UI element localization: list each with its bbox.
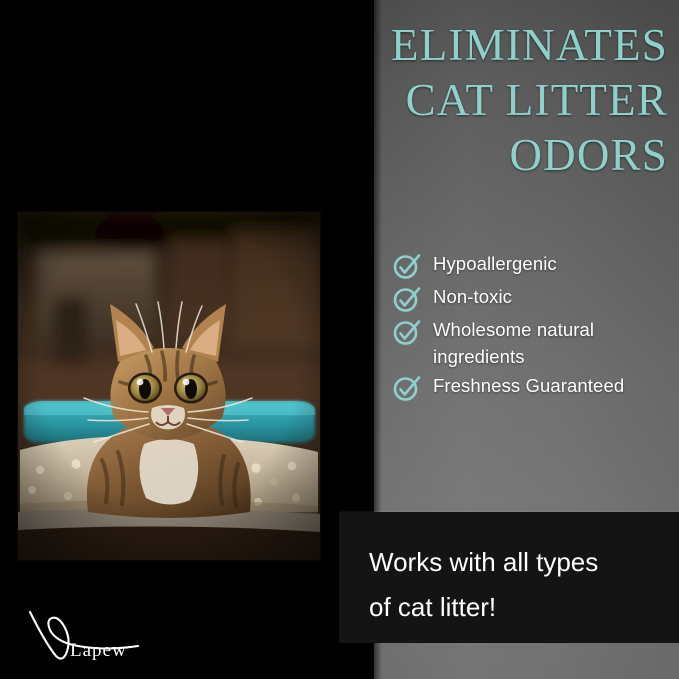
list-item-label: Freshness Guaranteed bbox=[433, 372, 624, 399]
kitten-litter-box-photo bbox=[18, 212, 320, 560]
caption-box: Works with all types of cat litter! bbox=[339, 512, 679, 643]
list-item: Wholesome natural ingredients bbox=[392, 316, 672, 370]
logo-text: Lapew bbox=[70, 640, 127, 662]
headline-line-1: ELIMINATES bbox=[286, 18, 668, 73]
circle-check-icon bbox=[392, 317, 422, 347]
list-item: Freshness Guaranteed bbox=[392, 372, 672, 403]
headline-line-2: CAT LITTER bbox=[286, 73, 668, 128]
list-item-label: Hypoallergenic bbox=[433, 250, 557, 277]
list-item-label: Wholesome natural ingredients bbox=[433, 316, 671, 370]
circle-check-icon bbox=[392, 251, 422, 281]
caption-text: Works with all types of cat litter! bbox=[369, 540, 659, 630]
list-item: Hypoallergenic bbox=[392, 250, 672, 281]
circle-check-icon bbox=[392, 373, 422, 403]
headline: ELIMINATES CAT LITTER ODORS bbox=[286, 18, 668, 183]
benefits-list: Hypoallergenic Non-toxic Wholesome natur… bbox=[392, 250, 672, 405]
caption-line-2: of cat litter! bbox=[369, 585, 659, 630]
circle-check-icon bbox=[392, 284, 422, 314]
headline-line-3: ODORS bbox=[286, 128, 668, 183]
brand-logo: Lapew bbox=[26, 604, 176, 664]
product-ad-image: ELIMINATES CAT LITTER ODORS bbox=[0, 0, 679, 679]
kitten-photo-illustration bbox=[18, 212, 320, 560]
list-item-label: Non-toxic bbox=[433, 283, 512, 310]
caption-line-1: Works with all types bbox=[369, 540, 659, 585]
list-item: Non-toxic bbox=[392, 283, 672, 314]
